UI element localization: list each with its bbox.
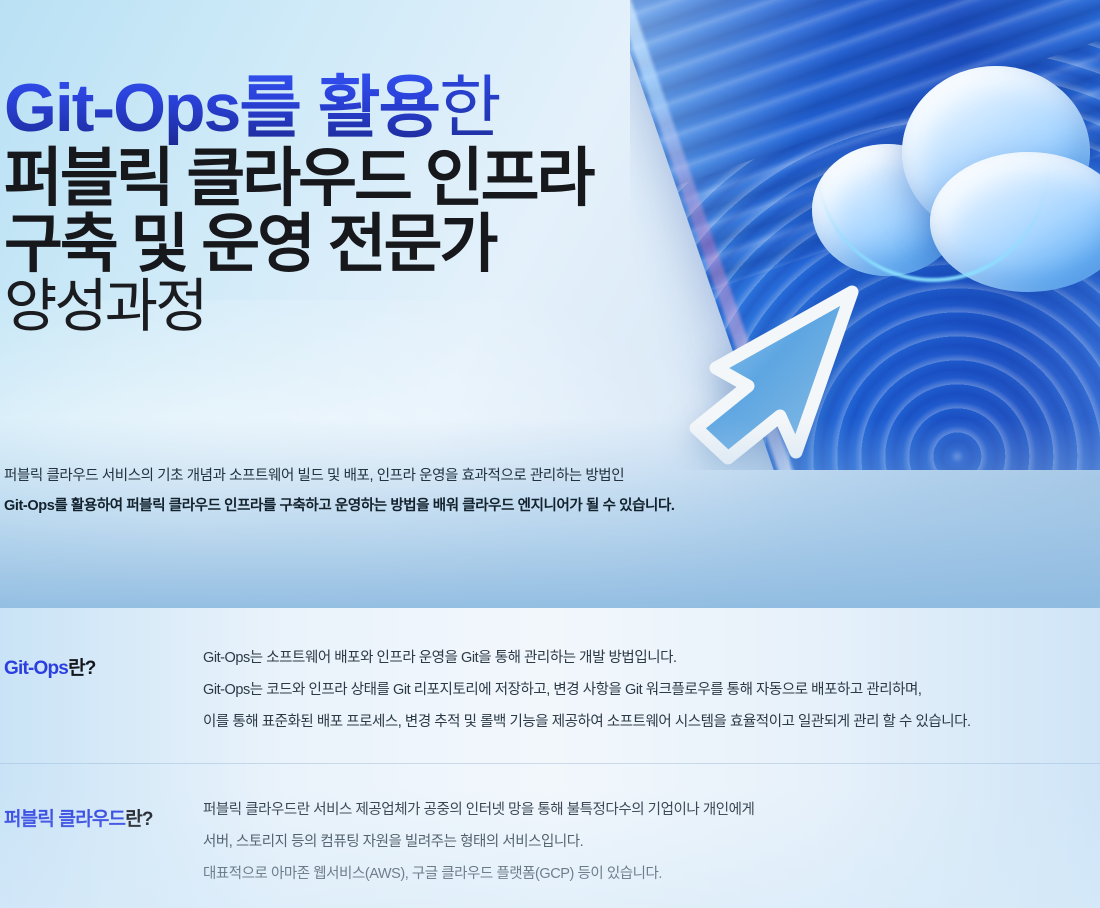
info-body-line: Git-Ops는 소프트웨어 배포와 인프라 운영을 Git을 통해 관리하는 … <box>203 648 1098 670</box>
hero-headline-block: Git-Ops를활용한 퍼블릭 클라우드 인프라 구축 및 운영 전문가 양성과… <box>0 74 760 336</box>
info-body-line: Git-Ops는 코드와 인프라 상태를 Git 리포지토리에 저장하고, 변경… <box>203 680 1098 702</box>
info-body-public-cloud: 퍼블릭 클라우드란 서비스 제공업체가 공중의 인터넷 망을 통해 불특정다수의… <box>203 800 1100 885</box>
hero-subtitle-line-1: 퍼블릭 클라우드 서비스의 기초 개념과 소프트웨어 빌드 및 배포, 인프라 … <box>4 466 1004 487</box>
hero-subtitle-block: 퍼블릭 클라우드 서비스의 기초 개념과 소프트웨어 빌드 및 배포, 인프라 … <box>4 466 1004 526</box>
info-label-public-cloud: 퍼블릭 클라우드란? <box>0 800 203 831</box>
cloud-3d-icon <box>806 66 1100 316</box>
title-hwaryong-text: 활용 <box>300 70 439 146</box>
title-gitops-text: Git-Ops를 <box>4 70 300 146</box>
info-row-gitops: Git-Ops란? Git-Ops는 소프트웨어 배포와 인프라 운영을 Git… <box>0 608 1100 763</box>
hero-subtitle-line-2: Git-Ops를 활용하여 퍼블릭 클라우드 인프라를 구축하고 운영하는 방법… <box>4 496 1004 517</box>
info-label-suffix: 란? <box>125 809 153 830</box>
title-han-text: 한 <box>439 70 500 146</box>
title-line-4: 양성과정 <box>0 278 760 336</box>
hero-banner: 10 023 // 0190 01010100100 - 0103 00 001… <box>0 0 1100 608</box>
title-line-3: 구축 및 운영 전문가 <box>0 212 760 276</box>
info-body-gitops: Git-Ops는 소프트웨어 배포와 인프라 운영을 Git을 통해 관리하는 … <box>203 648 1100 733</box>
info-body-line: 이를 통해 표준화된 배포 프로세스, 변경 추적 및 롤백 기능을 제공하여 … <box>203 712 1098 734</box>
course-landing-page: 10 023 // 0190 01010100100 - 0103 00 001… <box>0 0 1100 908</box>
info-label-gitops: Git-Ops란? <box>0 648 203 680</box>
info-row-public-cloud: 퍼블릭 클라우드란? 퍼블릭 클라우드란 서비스 제공업체가 공중의 인터넷 망… <box>0 763 1100 908</box>
title-line-2: 퍼블릭 클라우드 인프라 <box>0 146 760 210</box>
info-label-suffix: 란? <box>68 658 96 679</box>
title-line-1: Git-Ops를활용한 <box>0 74 760 142</box>
info-label-accent: 퍼블릭 클라우드 <box>4 809 125 830</box>
info-section: Git-Ops란? Git-Ops는 소프트웨어 배포와 인프라 운영을 Git… <box>0 608 1100 908</box>
info-label-accent: Git-Ops <box>4 658 68 679</box>
info-body-line: 서버, 스토리지 등의 컴퓨팅 자원을 빌려주는 형태의 서비스입니다. <box>203 832 1098 854</box>
info-body-line: 대표적으로 아마존 웹서비스(AWS), 구글 클라우드 플랫폼(GCP) 등이… <box>203 864 1098 886</box>
info-body-line: 퍼블릭 클라우드란 서비스 제공업체가 공중의 인터넷 망을 통해 불특정다수의… <box>203 800 1098 822</box>
